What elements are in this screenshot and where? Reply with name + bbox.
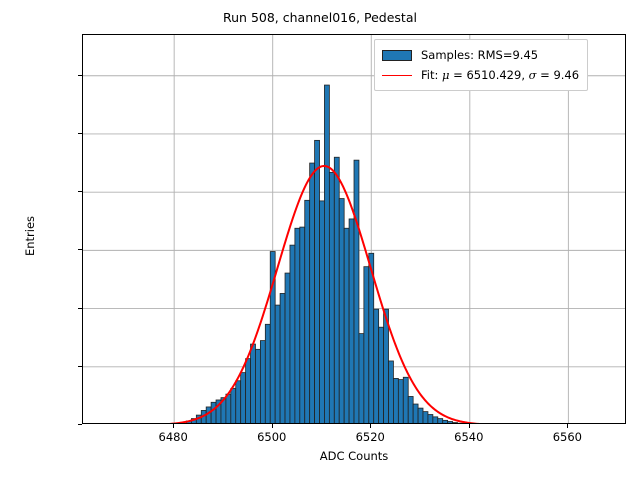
legend-label-samples: Samples: RMS=9.45: [421, 48, 538, 62]
x-axis-label: ADC Counts: [82, 449, 626, 463]
histogram-bar: [364, 267, 369, 424]
histogram-bar: [182, 423, 187, 424]
y-axis-tick-mark: [78, 366, 82, 367]
histogram-bar: [285, 273, 290, 424]
y-axis-tick-mark: [78, 191, 82, 192]
histogram-bar: [290, 245, 295, 424]
histogram-bar: [349, 219, 354, 424]
histogram-bar: [379, 327, 384, 424]
x-axis-tick-mark: [370, 424, 371, 428]
histogram-and-fit: [83, 35, 626, 424]
histogram-bar: [443, 420, 448, 424]
histogram-bar: [448, 422, 453, 424]
histogram-bar: [354, 160, 359, 424]
legend-label-fit: Fit: μ = 6510.429, σ = 9.46: [421, 68, 579, 82]
histogram-bar: [275, 305, 280, 424]
x-axis-tick-label: 6480: [138, 430, 208, 444]
x-axis-tick-label: 6560: [532, 430, 602, 444]
histogram-bar: [226, 394, 231, 424]
histogram-bar: [246, 359, 251, 424]
y-axis-tick-mark: [78, 249, 82, 250]
x-axis-tick-label: 6500: [237, 430, 307, 444]
histogram-bar: [329, 172, 334, 424]
histogram-bar: [374, 309, 379, 424]
chart-legend[interactable]: Samples: RMS=9.45 Fit: μ = 6510.429, σ =…: [374, 39, 588, 91]
histogram-bar: [423, 412, 428, 424]
histogram-bar: [310, 163, 315, 424]
y-axis-tick-mark: [78, 75, 82, 76]
histogram-bar: [315, 140, 320, 424]
legend-item-fit[interactable]: Fit: μ = 6510.429, σ = 9.46: [382, 65, 579, 85]
sigma-symbol: σ: [529, 68, 537, 82]
histogram-bar: [433, 417, 438, 424]
y-axis-label: Entries: [23, 176, 37, 296]
histogram-bar: [418, 408, 423, 424]
histogram-bar: [251, 344, 256, 424]
page-title: Run 508, channel016, Pedestal: [0, 10, 640, 25]
histogram-bar: [438, 419, 443, 424]
matplotlib-figure: Run 508, channel016, Pedestal Entries AD…: [0, 0, 640, 480]
legend-item-samples[interactable]: Samples: RMS=9.45: [382, 45, 579, 65]
histogram-bar: [453, 423, 458, 424]
histogram-bar: [265, 324, 270, 424]
histogram-bar: [393, 378, 398, 424]
histogram-bar: [389, 361, 394, 424]
x-axis-tick-label: 6520: [335, 430, 405, 444]
legend-line-icon: [382, 70, 412, 81]
histogram-bar: [403, 377, 408, 424]
histogram-bar: [344, 228, 349, 424]
histogram-bar: [211, 402, 216, 424]
histogram-bar: [428, 415, 433, 424]
histogram-bar: [260, 341, 265, 424]
histogram-bar: [408, 396, 413, 424]
histogram-bar: [231, 388, 236, 424]
histogram-bar: [241, 373, 246, 424]
histogram-bar: [398, 380, 403, 424]
x-axis-tick-mark: [272, 424, 273, 428]
histogram-bar: [206, 407, 211, 424]
histogram-bar: [236, 381, 241, 424]
histogram-bar: [334, 157, 339, 424]
legend-fit-mid: = 6510.429,: [450, 68, 529, 82]
histogram-bar: [324, 85, 329, 424]
histogram-bar: [359, 334, 364, 424]
x-axis-tick-mark: [173, 424, 174, 428]
histogram-bar: [320, 201, 325, 424]
legend-patch-icon: [382, 50, 412, 61]
histogram-bar: [305, 200, 310, 424]
histogram-bar: [300, 227, 305, 424]
y-axis-tick-mark: [78, 133, 82, 134]
x-axis-tick-mark: [469, 424, 470, 428]
histogram-bar: [457, 423, 462, 424]
legend-fit-suffix: = 9.46: [537, 68, 580, 82]
legend-fit-prefix: Fit:: [421, 68, 442, 82]
histogram-bar: [384, 309, 389, 424]
x-axis-tick-label: 6540: [434, 430, 504, 444]
y-axis-tick-mark: [78, 424, 82, 425]
histogram-bar: [295, 228, 300, 424]
histogram-bar: [280, 293, 285, 424]
x-axis-tick-mark: [567, 424, 568, 428]
histogram-bar: [413, 404, 418, 424]
y-axis-tick-mark: [78, 308, 82, 309]
mu-symbol: μ: [442, 68, 449, 82]
plot-area: [82, 34, 626, 424]
histogram-bar: [255, 349, 260, 424]
histogram-bar: [339, 199, 344, 424]
histogram-bars: [182, 85, 497, 424]
